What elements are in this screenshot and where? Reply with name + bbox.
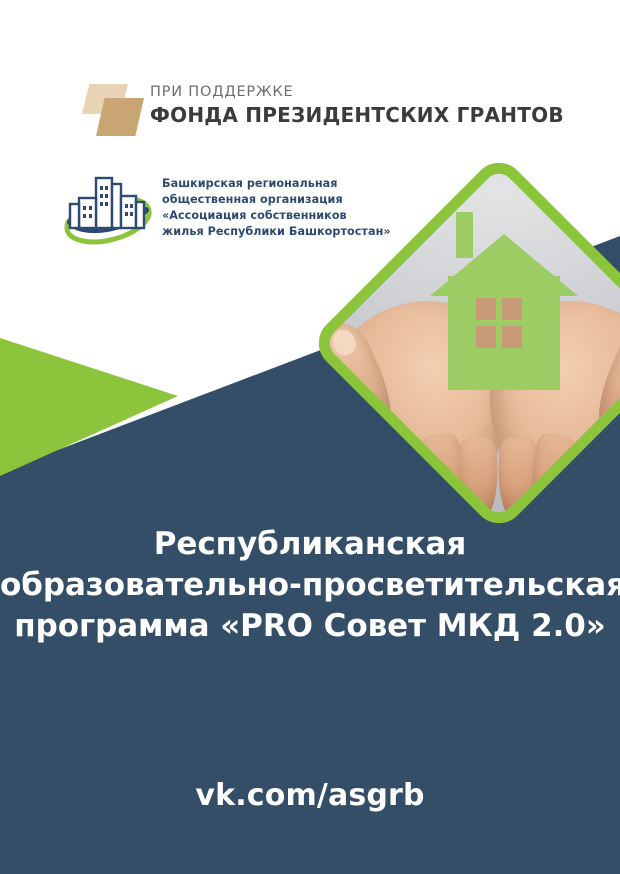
presidential-grants-line1: ПРИ ПОДДЕРЖКЕ: [150, 84, 570, 101]
headline-line-1: Республиканская: [0, 524, 620, 565]
organization-line-3: «Ассоциация собственников: [162, 208, 392, 224]
vk-link[interactable]: vk.com/asgrb: [0, 778, 620, 813]
headline-line-2: образовательно-просветительская: [0, 565, 620, 606]
left-thumb-nail: [329, 326, 360, 359]
poster-root: ПРИ ПОДДЕРЖКЕ ФОНДА ПРЕЗИДЕНТСКИХ ГРАНТО…: [0, 0, 620, 874]
fingertip: [458, 437, 500, 521]
presidential-grants-logo: [82, 84, 144, 136]
house-window: [476, 326, 496, 348]
organization-line-4: жилья Республики Башкортостан»: [162, 224, 392, 240]
fingertips-group: [426, 432, 576, 518]
headline-line-3: программа «PRO Совет МКД 2.0»: [0, 606, 620, 647]
organization-line-1: Башкирская региональная: [162, 176, 392, 192]
page-title: Республиканская образовательно-просветит…: [0, 524, 620, 648]
green-paper-house-icon: [430, 212, 578, 390]
organization-logo: [62, 170, 154, 246]
house-window: [502, 298, 522, 320]
house-window: [476, 298, 496, 320]
presidential-grants-text: ПРИ ПОДДЕРЖКЕ ФОНДА ПРЕЗИДЕНТСКИХ ГРАНТО…: [150, 84, 570, 128]
house-window: [502, 326, 522, 348]
presidential-grants-line2: ФОНДА ПРЕЗИДЕНТСКИХ ГРАНТОВ: [150, 103, 570, 128]
organization-name-text: Башкирская региональная общественная орг…: [162, 176, 392, 240]
organization-line-2: общественная организация: [162, 192, 392, 208]
city-buildings-swoosh-icon: [62, 170, 154, 246]
